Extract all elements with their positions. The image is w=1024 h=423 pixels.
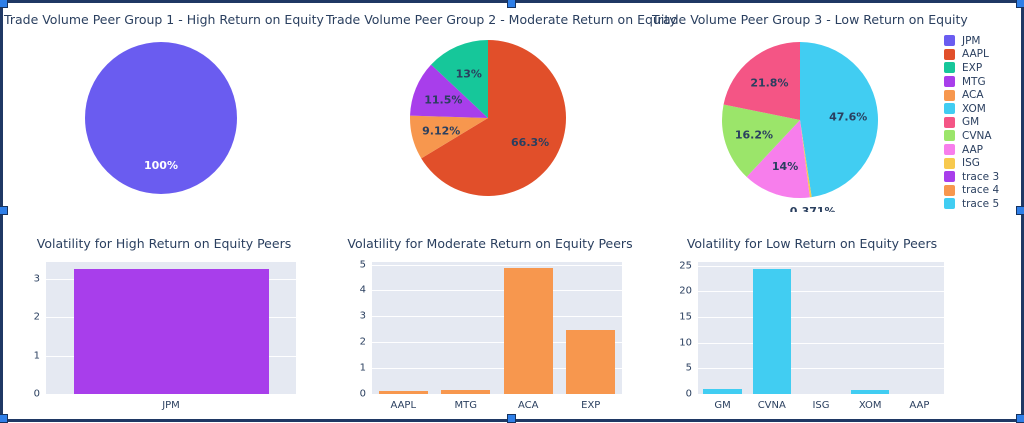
pie-slice-label-gm: 21.8% — [750, 77, 788, 90]
gridline — [698, 317, 944, 318]
legend-item-trace-4[interactable]: trace 4 — [944, 184, 999, 198]
legend-item-xom[interactable]: XOM — [944, 102, 999, 116]
legend-item-cvna[interactable]: CVNA — [944, 129, 999, 143]
y-axis-tick-label: 20 — [664, 286, 692, 297]
legend-swatch-icon — [944, 35, 955, 46]
pie-title-1: Trade Volume Peer Group 1 - High Return … — [4, 12, 324, 27]
legend-swatch-icon — [944, 144, 955, 155]
legend-label: JPM — [962, 35, 981, 47]
legend-label: AAPL — [962, 48, 989, 60]
gridline — [698, 266, 944, 267]
pie-slice-label-jpm: 100% — [144, 159, 178, 172]
legend-swatch-icon — [944, 90, 955, 101]
legend-item-aap[interactable]: AAP — [944, 143, 999, 157]
legend-label: ISG — [962, 157, 980, 169]
x-axis-tick-label-xom: XOM — [846, 400, 895, 411]
legend-label: EXP — [962, 62, 982, 74]
pie-chart-3[interactable]: 47.6%0.371%14%16.2%21.8% — [652, 32, 944, 212]
legend-item-jpm[interactable]: JPM — [944, 34, 999, 48]
x-axis-tick-label-exp: EXP — [560, 400, 623, 411]
resize-handle-middle-left[interactable] — [0, 206, 8, 215]
x-axis-tick-label-aapl: AAPL — [372, 400, 435, 411]
legend-item-isg[interactable]: ISG — [944, 156, 999, 170]
y-axis-tick-label: 15 — [664, 311, 692, 322]
x-axis-tick-label-gm: GM — [698, 400, 747, 411]
legend-item-aca[interactable]: ACA — [944, 88, 999, 102]
legend[interactable]: JPMAAPLEXPMTGACAXOMGMCVNAAAPISGtrace 3tr… — [944, 34, 999, 211]
legend-item-trace-5[interactable]: trace 5 — [944, 197, 999, 211]
bar-title-2: Volatility for Moderate Return on Equity… — [330, 236, 650, 251]
bar-cvna[interactable] — [753, 269, 791, 394]
plot-area — [698, 262, 944, 394]
pie-panel-1: Trade Volume Peer Group 1 - High Return … — [4, 12, 324, 208]
gridline — [372, 265, 622, 266]
gridline — [372, 290, 622, 291]
y-axis-tick-label: 0 — [664, 389, 692, 400]
y-axis-tick-label: 2 — [12, 312, 40, 323]
bar-chart-2[interactable]: 012345AAPLMTGACAEXP — [330, 254, 650, 414]
pie-title-3: Trade Volume Peer Group 3 - Low Return o… — [652, 12, 944, 27]
legend-label: XOM — [962, 103, 986, 115]
resize-handle-top-left[interactable] — [0, 0, 8, 8]
x-axis-tick-label-jpm: JPM — [46, 400, 296, 411]
y-axis-tick-label: 5 — [338, 259, 366, 270]
y-axis-tick-label: 1 — [338, 363, 366, 374]
y-axis-tick-label: 5 — [664, 363, 692, 374]
bar-jpm[interactable] — [74, 269, 269, 394]
pie-panel-3: Trade Volume Peer Group 3 - Low Return o… — [652, 12, 944, 208]
x-axis-tick-label-aca: ACA — [497, 400, 560, 411]
legend-label: GM — [962, 116, 979, 128]
legend-swatch-icon — [944, 171, 955, 182]
x-axis-tick-label-mtg: MTG — [435, 400, 498, 411]
legend-label: AAP — [962, 144, 983, 156]
bar-xom[interactable] — [851, 390, 889, 394]
legend-swatch-icon — [944, 130, 955, 141]
legend-label: MTG — [962, 76, 986, 88]
y-axis-tick-label: 2 — [338, 337, 366, 348]
bar-chart-1[interactable]: 0123JPM — [4, 254, 324, 414]
gridline — [698, 368, 944, 369]
pie-slice-label-exp: 13% — [456, 68, 482, 81]
bar-aca[interactable] — [504, 268, 553, 394]
legend-label: trace 5 — [962, 198, 999, 210]
x-axis-tick-label-aap: AAP — [895, 400, 944, 411]
y-axis-tick-label: 4 — [338, 285, 366, 296]
legend-swatch-icon — [944, 185, 955, 196]
bar-mtg[interactable] — [441, 390, 490, 394]
pie-panel-2: Trade Volume Peer Group 2 - Moderate Ret… — [326, 12, 654, 208]
legend-item-exp[interactable]: EXP — [944, 61, 999, 75]
resize-handle-top-center[interactable] — [507, 0, 516, 8]
legend-label: trace 3 — [962, 171, 999, 183]
pie-title-2: Trade Volume Peer Group 2 - Moderate Ret… — [326, 12, 654, 27]
pie-slice-label-cvna: 16.2% — [735, 129, 773, 142]
legend-item-gm[interactable]: GM — [944, 116, 999, 130]
pie-slice-label-aca: 9.12% — [422, 124, 460, 137]
legend-swatch-icon — [944, 117, 955, 128]
bar-gm[interactable] — [703, 389, 741, 394]
legend-item-mtg[interactable]: MTG — [944, 75, 999, 89]
y-axis-tick-label: 1 — [12, 350, 40, 361]
gridline — [698, 343, 944, 344]
bar-aapl[interactable] — [379, 391, 428, 394]
y-axis-tick-label: 0 — [12, 389, 40, 400]
bar-panel-1: Volatility for High Return on Equity Pee… — [4, 236, 324, 418]
bar-title-3: Volatility for Low Return on Equity Peer… — [652, 236, 972, 251]
x-axis-tick-label-cvna: CVNA — [747, 400, 796, 411]
legend-swatch-icon — [944, 198, 955, 209]
pie-slice-label-mtg: 11.5% — [424, 94, 462, 107]
resize-handle-top-right[interactable] — [1016, 0, 1024, 8]
x-axis-tick-label-isg: ISG — [796, 400, 845, 411]
bar-title-1: Volatility for High Return on Equity Pee… — [4, 236, 324, 251]
legend-label: CVNA — [962, 130, 992, 142]
pie-slice-label-xom: 47.6% — [829, 110, 867, 123]
pie-slice-label-isg: 0.371% — [790, 205, 836, 212]
bar-panel-2: Volatility for Moderate Return on Equity… — [330, 236, 650, 418]
y-axis-tick-label: 0 — [338, 389, 366, 400]
legend-swatch-icon — [944, 158, 955, 169]
legend-swatch-icon — [944, 49, 955, 60]
chart-canvas: Trade Volume Peer Group 1 - High Return … — [4, 4, 1020, 418]
pie-slice-label-aap: 14% — [772, 160, 798, 173]
legend-swatch-icon — [944, 103, 955, 114]
y-axis-tick-label: 25 — [664, 260, 692, 271]
legend-swatch-icon — [944, 62, 955, 73]
pie-slice-label-aapl: 66.3% — [511, 136, 549, 149]
legend-label: trace 4 — [962, 184, 999, 196]
bar-chart-3[interactable]: 0510152025GMCVNAISGXOMAAP — [652, 254, 972, 414]
y-axis-tick-label: 10 — [664, 337, 692, 348]
resize-handle-middle-right[interactable] — [1016, 206, 1024, 215]
legend-swatch-icon — [944, 76, 955, 87]
pie-chart-1[interactable]: 100% — [4, 32, 324, 207]
legend-item-aapl[interactable]: AAPL — [944, 48, 999, 62]
bar-exp[interactable] — [566, 330, 615, 394]
bar-panel-3: Volatility for Low Return on Equity Peer… — [652, 236, 972, 418]
legend-label: ACA — [962, 89, 984, 101]
pie-chart-2[interactable]: 66.3%9.12%11.5%13% — [326, 32, 654, 207]
y-axis-tick-label: 3 — [338, 311, 366, 322]
y-axis-tick-label: 3 — [12, 274, 40, 285]
gridline — [372, 316, 622, 317]
legend-item-trace-3[interactable]: trace 3 — [944, 170, 999, 184]
gridline — [698, 291, 944, 292]
